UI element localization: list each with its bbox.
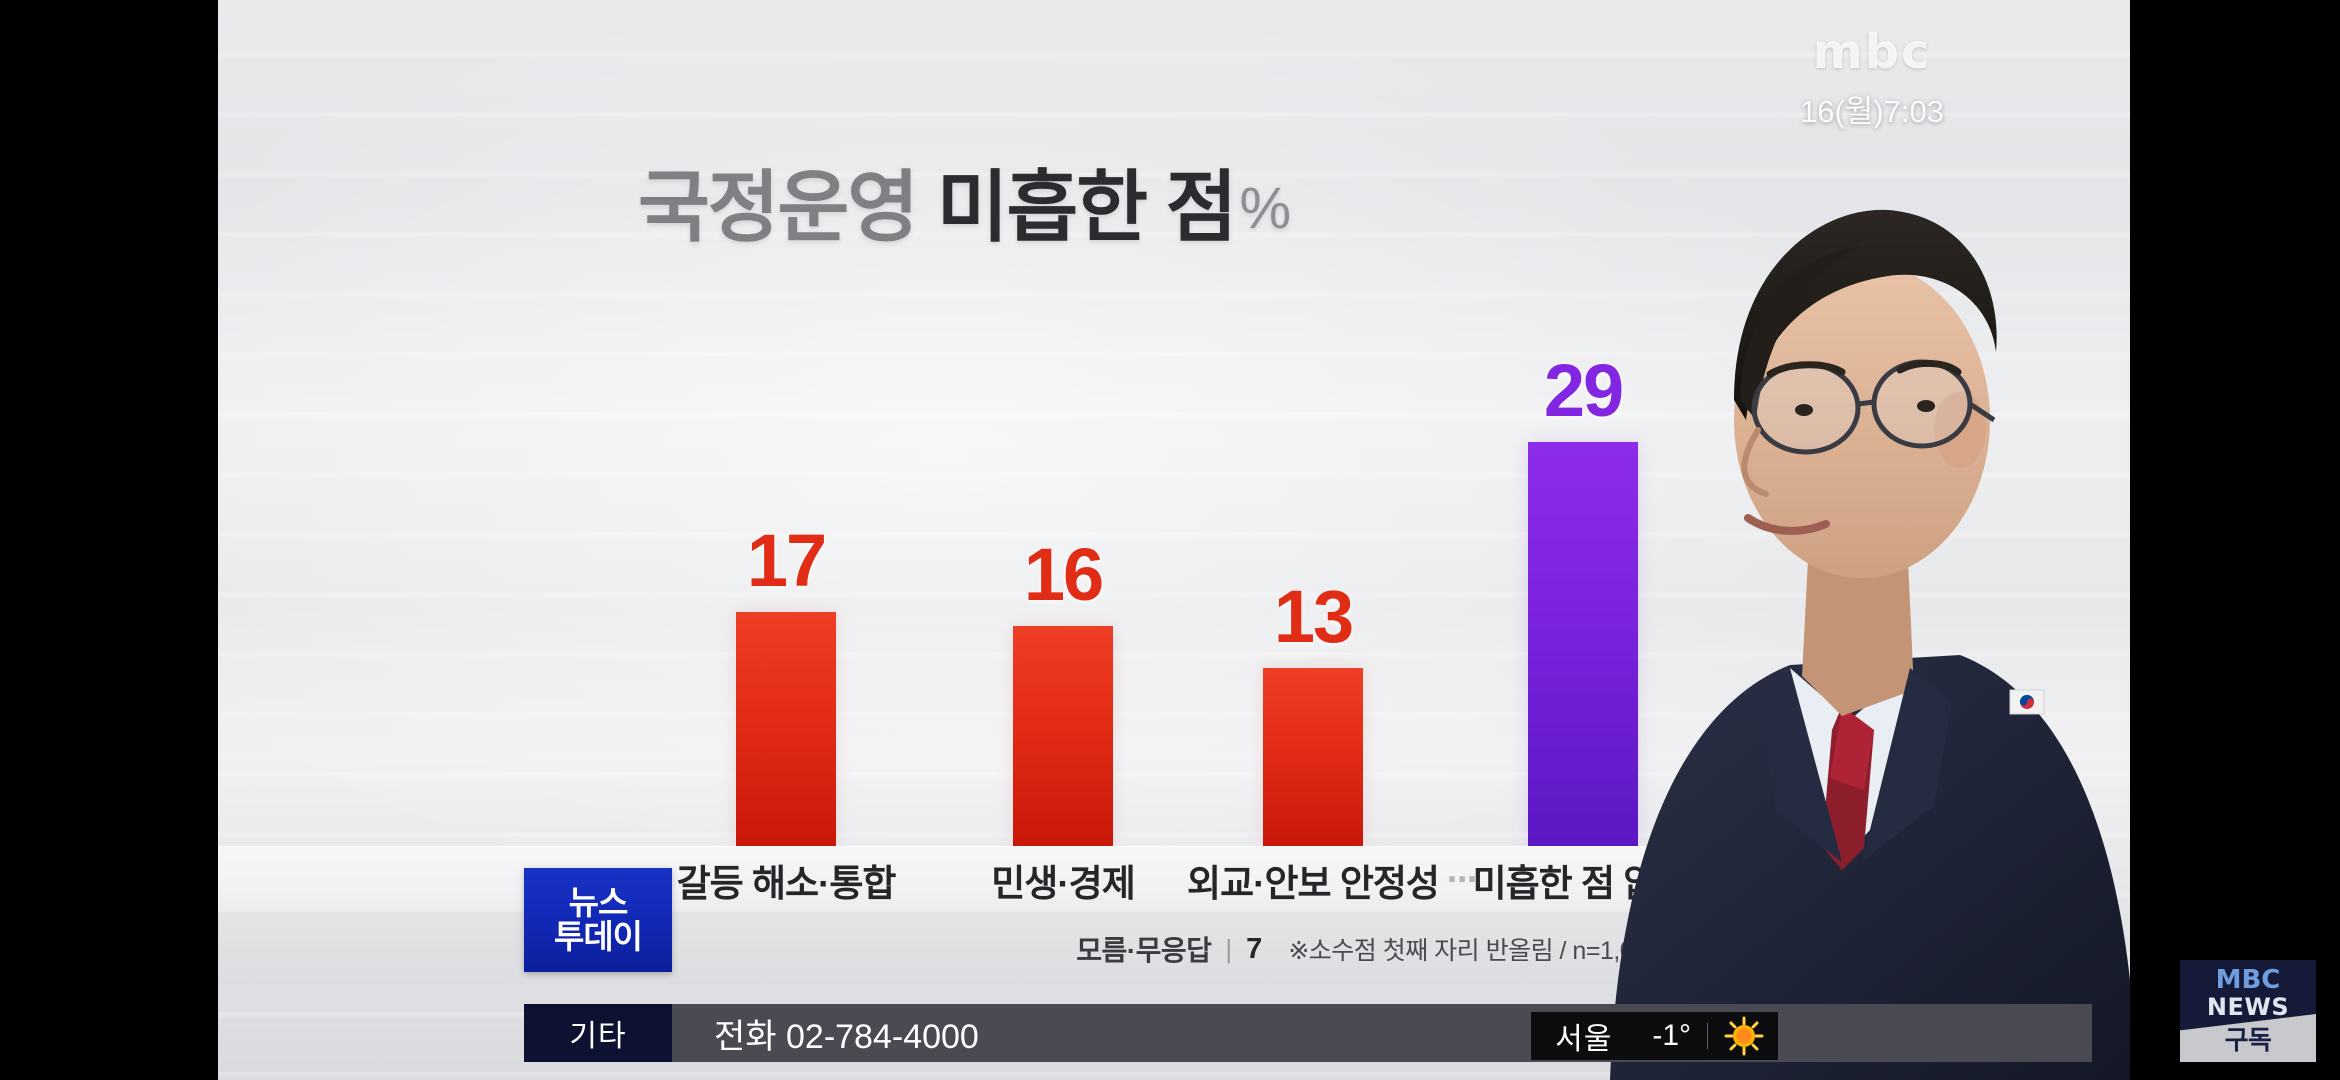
category-label: 외교·안보 안정성	[1187, 853, 1439, 907]
footnote-value: 7	[1246, 933, 1262, 966]
category-axis: 갈등 해소·통합 민생·경제 외교·안보 안정성 ⋯ 미흡한 점 없음	[218, 846, 1778, 913]
footnote-separator: |	[1225, 934, 1232, 965]
ticker-text: 전화 02-784-4000	[714, 1009, 979, 1058]
category-label: 갈등 해소·통합	[677, 853, 896, 907]
bar-value-label: 16	[1024, 538, 1102, 612]
category-label: 미흡한 점 없음	[1473, 853, 1690, 907]
weather-divider	[1707, 1023, 1708, 1049]
footnote-note: ※소수점 첫째 자리 반올림 / n=1,000	[1288, 931, 1660, 967]
weather-city: 서울	[1555, 1014, 1612, 1058]
subscribe-brand-line1: MBC	[2216, 967, 2281, 993]
bar-value-label: 29	[1544, 354, 1622, 428]
bar-rect	[1013, 626, 1113, 846]
video-frame: mbc 16(월)7:03 국정운영 미흡한 점% 17 16 13	[218, 0, 2130, 1080]
weather-badge: 서울 -1°	[1531, 1012, 1778, 1060]
category-label: 민생·경제	[991, 853, 1134, 907]
ticker-body: 전화 02-784-4000	[672, 1004, 2092, 1062]
program-logo: 뉴스 투데이	[524, 868, 672, 972]
bar-group: 16	[993, 0, 1133, 846]
bar-chart-plot: 17 16 13 29	[218, 0, 1778, 846]
bar-group: 13	[1243, 0, 1383, 846]
sun-icon	[1724, 1016, 1764, 1056]
bar-group: 17	[716, 0, 856, 846]
program-logo-line1: 뉴스	[569, 886, 628, 920]
subscribe-action-label: 구독	[2225, 1020, 2272, 1062]
weather-temperature: -1°	[1652, 1019, 1691, 1053]
mbc-logo-text: mbc	[1800, 28, 1944, 76]
bar-value-label: 13	[1274, 580, 1352, 654]
channel-watermark: mbc 16(월)7:03	[1800, 28, 1944, 131]
ticker-category: 기타	[524, 1004, 672, 1062]
subscribe-brand: MBC NEWS	[2180, 960, 2316, 1026]
subscribe-brand-line2: NEWS	[2207, 995, 2289, 1019]
bar-rect	[736, 612, 836, 846]
footnote-label: 모름·무응답	[1076, 929, 1211, 969]
footnote-row: 모름·무응답 | 7 ※소수점 첫째 자리 반올림 / n=1,000	[218, 912, 1778, 986]
poll-graphic-panel: 국정운영 미흡한 점% 17 16 13 29	[218, 0, 1778, 912]
lower-third-ticker: 기타 전화 02-784-4000	[524, 1004, 2092, 1062]
bar-rect	[1528, 442, 1638, 846]
subscribe-badge[interactable]: MBC NEWS 구독	[2180, 960, 2316, 1062]
clock-readout: 16(월)7:03	[1800, 86, 1944, 131]
bar-rect	[1263, 668, 1363, 846]
program-logo-line2: 투데이	[554, 920, 642, 954]
bar-value-label: 17	[747, 524, 825, 598]
ticker-category-label: 기타	[569, 1011, 626, 1055]
broadcast-screenshot: mbc 16(월)7:03 국정운영 미흡한 점% 17 16 13	[0, 0, 2340, 1080]
bar-group: 29	[1508, 0, 1658, 846]
